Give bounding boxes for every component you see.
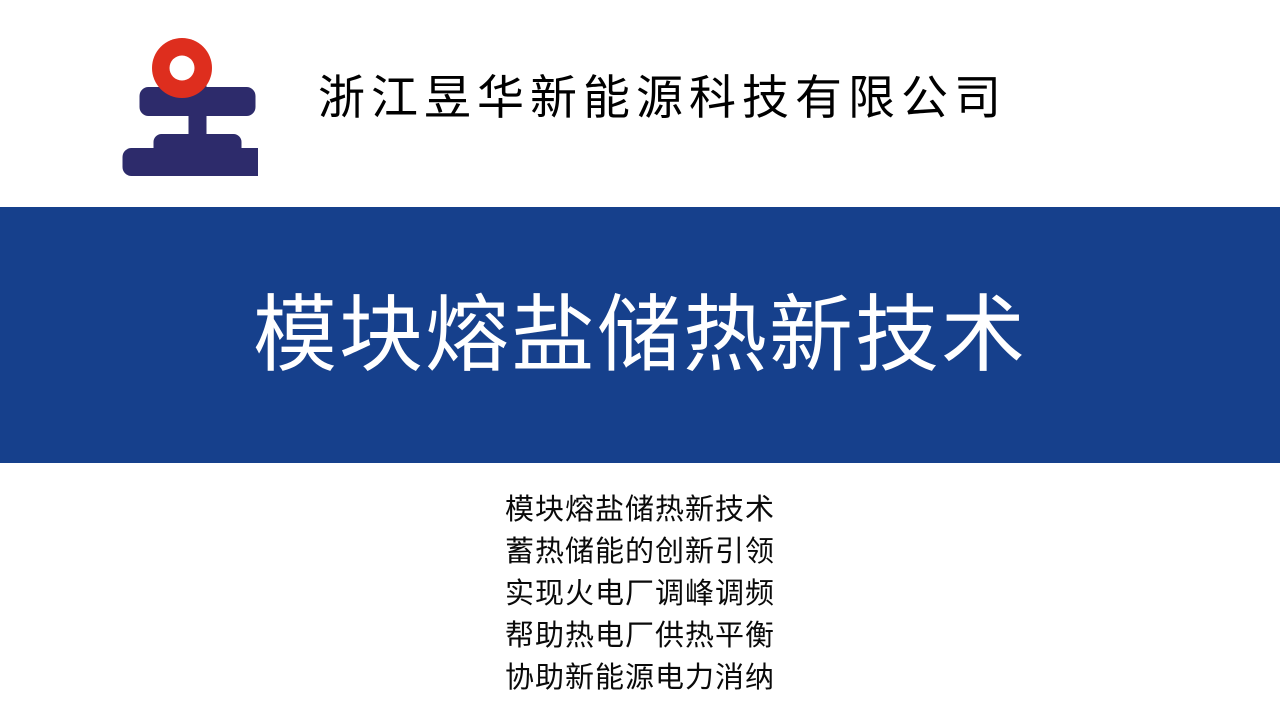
tagline-list: 模块熔盐储热新技术 蓄热储能的创新引领 实现火电厂调峰调频 帮助热电厂供热平衡 … (0, 488, 1280, 698)
main-title: 模块熔盐储热新技术 (253, 280, 1027, 390)
company-name: 浙江昱华新能源科技有限公司 (318, 70, 1007, 128)
title-band: 模块熔盐储热新技术 (0, 207, 1280, 463)
tagline-item: 模块熔盐储热新技术 (0, 488, 1280, 530)
company-logo (118, 28, 258, 176)
tagline-item: 协助新能源电力消纳 (0, 656, 1280, 698)
tagline-item: 实现火电厂调峰调频 (0, 572, 1280, 614)
tagline-item: 帮助热电厂供热平衡 (0, 614, 1280, 656)
tagline-item: 蓄热储能的创新引领 (0, 530, 1280, 572)
logo-red-ring (152, 38, 212, 98)
logo-graphic (118, 28, 258, 176)
slide-header: 浙江昱华新能源科技有限公司 (0, 0, 1280, 207)
